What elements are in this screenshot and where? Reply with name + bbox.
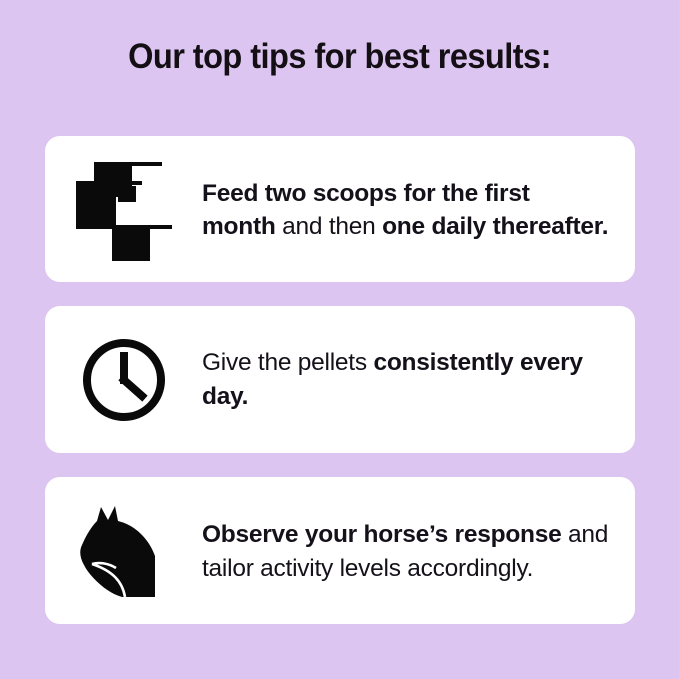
tip-text: Feed two scoops for the first month and … [202,175,635,244]
tip-text-bold-1: Observe your horse’s response [202,521,562,548]
tips-list: Feed two scoops for the first month and … [45,136,635,624]
tip-text-regular-1: and then [276,213,382,240]
clock-icon [45,306,202,453]
tips-poster: Our top tips for best results: [0,0,679,679]
two-scoops-icon [45,136,202,282]
tip-text: Observe your horse’s response and tailor… [202,516,635,585]
tip-text-regular-1: Give the pellets [202,349,373,376]
tip-card-feeding: Feed two scoops for the first month and … [45,136,635,282]
tip-card-observe: Observe your horse’s response and tailor… [45,477,635,624]
page-title: Our top tips for best results: [24,36,655,78]
tip-text: Give the pellets consistently every day. [202,346,635,413]
horse-head-icon [45,477,202,624]
tip-text-bold-2: one daily thereafter. [382,213,608,240]
tip-card-consistency: Give the pellets consistently every day. [45,306,635,453]
